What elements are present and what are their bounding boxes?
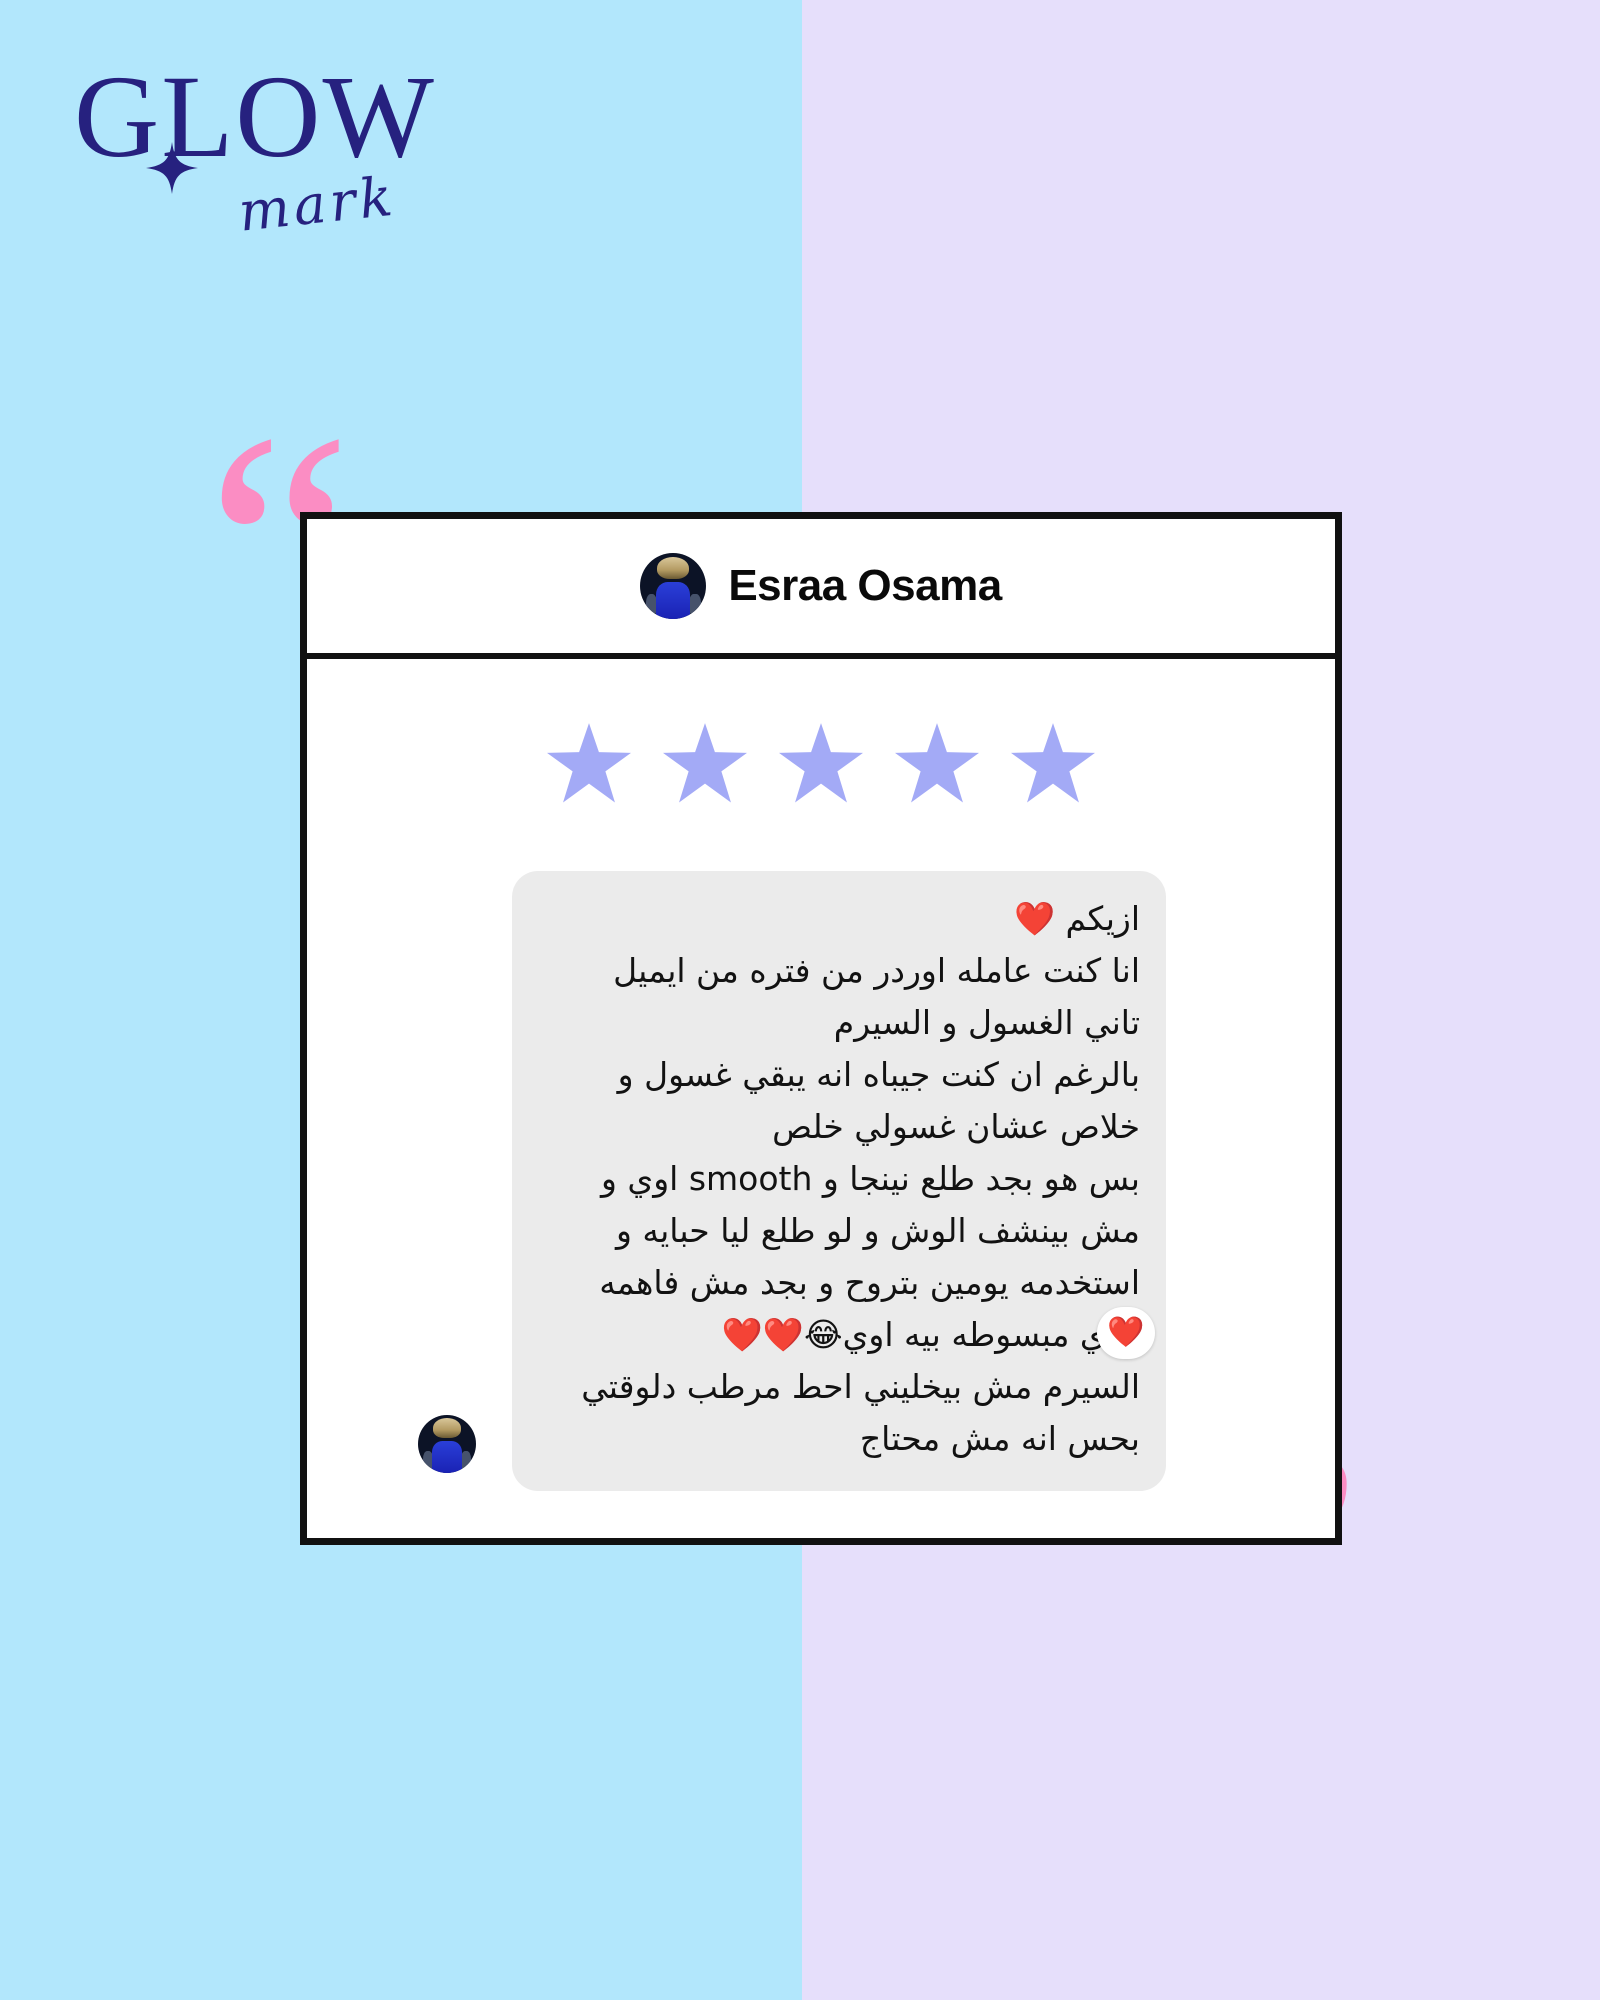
brand-logo: GLOW mark [74,58,494,238]
message-line: استخدمه يومين بتروح و بجد مش فاهمه [538,1257,1140,1309]
poster-canvas: GLOW mark “ ” Esraa Osama [0,0,1600,2000]
review-card: Esraa Osama ازيكم ❤️ انا كنت عامله اوردر… [300,512,1342,1545]
review-card-body: ازيكم ❤️ انا كنت عامله اوردر من فتره من … [307,659,1335,1539]
star-filled-icon-5 [1011,721,1095,805]
message-line: ازاي مبسوطه بيه اوي😂❤️❤️ [538,1309,1140,1361]
message-line: بالرغم ان كنت جيباه انه يبقي غسول و [538,1049,1140,1101]
message-line: ازيكم ❤️ [538,893,1140,945]
message-sender-avatar [418,1415,476,1473]
star-filled-icon-3 [779,721,863,805]
avatar-hair [657,557,689,579]
avatar-arm-right [461,1451,471,1471]
reviewer-name: Esraa Osama [728,561,1001,611]
message-line: بس هو بجد طلع نينجا و smooth اوي و [538,1153,1140,1205]
message-line: السيرم مش بيخليني احط مرطب دلوقتي [538,1361,1140,1413]
avatar-body [656,582,690,619]
avatar [640,553,706,619]
message-line: بحس انه مش محتاج [538,1413,1140,1465]
star-filled-icon-1 [547,721,631,805]
star-rating [307,659,1335,805]
message-line: تاني الغسول و السيرم [538,997,1140,1049]
brand-sub-mark: mark [236,169,399,239]
heart-reaction-icon[interactable]: ❤️ [1097,1307,1155,1359]
message-line: مش بينشف الوش و لو طلع ليا حبايه و [538,1205,1140,1257]
star-filled-icon-4 [895,721,979,805]
avatar-hair [433,1418,461,1438]
message-line: خلاص عشان غسولي خلص [538,1101,1140,1153]
avatar-body [432,1441,462,1473]
brand-name-glow: GLOW [74,58,436,176]
message-line: انا كنت عامله اوردر من فتره من ايميل [538,945,1140,997]
star-filled-icon-2 [663,721,747,805]
four-point-star-sparkle-icon [146,142,198,194]
review-card-header: Esraa Osama [307,519,1335,659]
avatar-arm-right [689,594,701,616]
message-bubble: ازيكم ❤️ انا كنت عامله اوردر من فتره من … [512,871,1166,1491]
